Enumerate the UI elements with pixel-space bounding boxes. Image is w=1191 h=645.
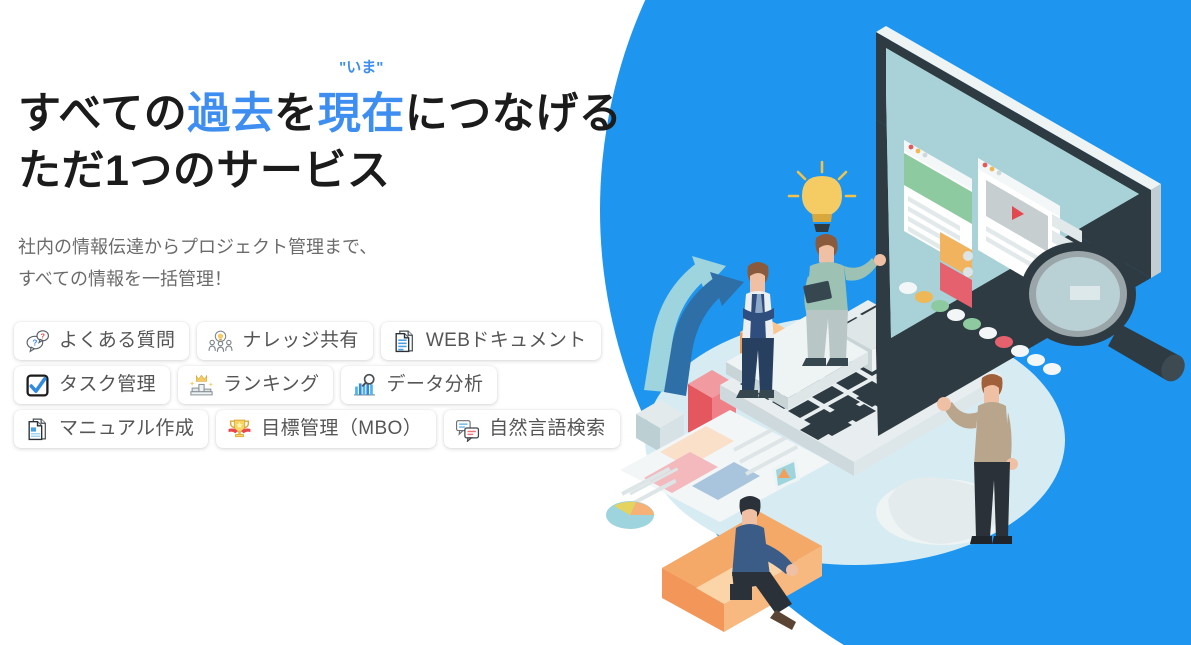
feature-chip-6[interactable]: マニュアル作成 [14, 410, 208, 448]
lightbulb-illustration [789, 162, 855, 232]
ruby-group: "いま"現在 [318, 86, 405, 143]
feature-chip-list: よくある質問ナレッジ共有WEBドキュメントタスク管理ランキングデータ分析マニュア… [14, 322, 634, 454]
page-title: すべての過去を"いま"現在につなげる ただ1つのサービス [18, 86, 622, 200]
headline-pre: すべての [18, 90, 187, 138]
web-document-pages-icon [392, 329, 417, 354]
task-checkbox-icon [25, 373, 50, 398]
feature-chip-7[interactable]: 目標管理（MBO） [216, 410, 436, 448]
ruby-text: "いま" [339, 60, 383, 75]
subcopy-line-1: 社内の情報伝達からプロジェクト管理まで、 [18, 237, 377, 257]
magnifier-icon [1020, 242, 1189, 386]
headline-accent-present: 現在 [318, 90, 405, 138]
feature-chip-label: ナレッジ共有 [242, 329, 358, 353]
hero-copy: すべての過去を"いま"現在につなげる ただ1つのサービス [18, 86, 622, 200]
feature-chip-4[interactable]: ランキング [178, 366, 333, 404]
headline-post: につなげる [405, 90, 623, 138]
faq-speech-bubbles-icon [25, 329, 50, 354]
headline-line2: ただ1つのサービス [18, 147, 390, 195]
goal-trophy-icon [227, 417, 252, 442]
subcopy-line-2: すべての情報を一括管理！ [18, 269, 232, 289]
feature-chip-label: データ分析 [386, 373, 483, 397]
feature-chip-row: よくある質問ナレッジ共有WEBドキュメント [14, 322, 609, 360]
feature-chip-label: WEBドキュメント [426, 329, 587, 353]
data-analysis-barchart-magnifier-icon [352, 373, 377, 398]
hero-section: すべての過去を"いま"現在につなげる ただ1つのサービス 社内の情報伝達からプロ… [0, 0, 1191, 645]
feature-chip-label: タスク管理 [59, 373, 156, 397]
manual-document-icon [25, 417, 50, 442]
feature-chip-label: 目標管理（MBO） [261, 417, 422, 441]
natural-language-chat-icon [455, 417, 480, 442]
headline-mid: を [274, 90, 318, 138]
feature-chip-row: マニュアル作成目標管理（MBO） [14, 410, 444, 448]
knowledge-people-lightbulb-icon [208, 329, 233, 354]
hero-subcopy: 社内の情報伝達からプロジェクト管理まで、 すべての情報を一括管理！ [18, 232, 377, 295]
feature-chip-label: 自然言語検索 [489, 417, 605, 441]
headline-accent-past: 過去 [187, 90, 274, 138]
feature-chip-0[interactable]: よくある質問 [14, 322, 189, 360]
feature-chip-label: ランキング [223, 373, 319, 397]
monitor-illustration [726, 26, 1189, 436]
feature-chip-label: よくある質問 [59, 329, 175, 353]
feature-chip-row: 自然言語検索 [444, 410, 627, 448]
feature-chip-label: マニュアル作成 [59, 417, 194, 441]
feature-chip-row: タスク管理ランキングデータ分析 [14, 366, 505, 404]
feature-chip-1[interactable]: ナレッジ共有 [197, 322, 372, 360]
ranking-podium-crown-icon [189, 373, 214, 398]
feature-chip-8[interactable]: 自然言語検索 [444, 410, 619, 448]
feature-chip-3[interactable]: タスク管理 [14, 366, 170, 404]
hero-illustration [600, 0, 1191, 645]
feature-chip-2[interactable]: WEBドキュメント [381, 322, 601, 360]
feature-chip-5[interactable]: データ分析 [341, 366, 497, 404]
